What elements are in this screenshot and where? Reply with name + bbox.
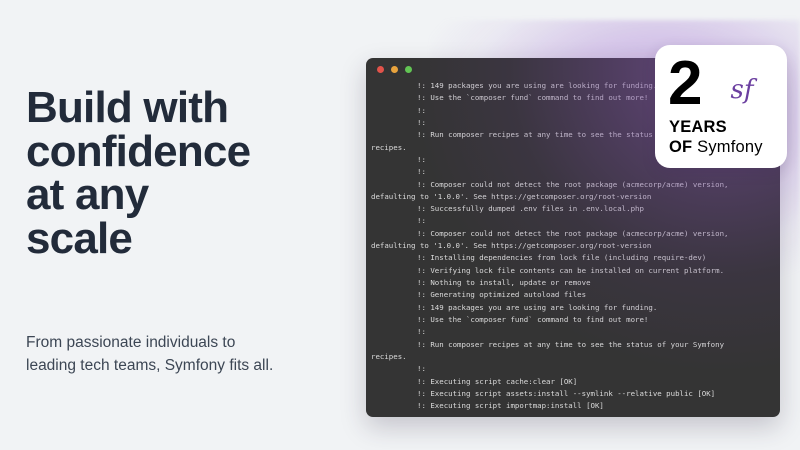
- terminal-line: !: Executing script importmap:install [O…: [366, 400, 780, 412]
- badge-of-symfony-label: OF Symfony: [669, 138, 763, 157]
- terminal-line: !: Use the `composer fund` command to fi…: [366, 314, 780, 326]
- terminal-line: !:: [366, 326, 780, 338]
- minimize-button[interactable]: [391, 66, 398, 73]
- terminal-line: !: Composer could not detect the root pa…: [366, 228, 780, 240]
- terminal-line: !:: [366, 166, 780, 178]
- close-button[interactable]: [377, 66, 384, 73]
- badge-brand-word: Symfony: [697, 138, 763, 156]
- terminal-line: !: Successfully dumped .env files in .en…: [366, 203, 780, 215]
- maximize-button[interactable]: [405, 66, 412, 73]
- anniversary-badge: 2 sf YEARS OF Symfony: [655, 45, 787, 168]
- symfony-mosaic-logo-icon: sf: [713, 58, 771, 116]
- terminal-line: !: Composer could not detect the root pa…: [366, 179, 780, 191]
- hero-title-line-1: Build with: [26, 86, 336, 130]
- terminal-line: !: 149 packages you are using are lookin…: [366, 302, 780, 314]
- terminal-line: recipes.: [366, 351, 780, 363]
- terminal-line: !: Verifying lock file contents can be i…: [366, 265, 780, 277]
- terminal-line: !: Generating optimized autoload files: [366, 289, 780, 301]
- terminal-line: !:: [366, 363, 780, 375]
- terminal-line: defaulting to '1.0.0'. See https://getco…: [366, 240, 780, 252]
- terminal-line: !: Executing script cache:clear [OK]: [366, 376, 780, 388]
- terminal-line: !: Executing script assets:install --sym…: [366, 388, 780, 400]
- badge-years-label: YEARS: [669, 118, 727, 137]
- hero-subtitle: From passionate individuals to leading t…: [26, 332, 326, 378]
- hero-title-line-2: confidence: [26, 130, 336, 174]
- terminal-line: !: Nothing to install, update or remove: [366, 277, 780, 289]
- hero-title-line-4: scale: [26, 217, 336, 261]
- hero-title-line-3: at any: [26, 173, 336, 217]
- badge-of-word: OF: [669, 138, 692, 156]
- terminal-line: defaulting to '1.0.0'. See https://getco…: [366, 191, 780, 203]
- terminal-line: !: Installing dependencies from lock fil…: [366, 252, 780, 264]
- badge-number-row: 2 sf: [655, 52, 787, 118]
- hero-subtitle-line-1: From passionate individuals to: [26, 332, 326, 355]
- terminal-line: !: Run composer recipes at any time to s…: [366, 339, 780, 351]
- slide-canvas: Build with confidence at any scale From …: [0, 0, 800, 450]
- badge-number: 2: [668, 53, 699, 115]
- terminal-line: !:: [366, 215, 780, 227]
- hero-subtitle-line-2: leading tech teams, Symfony fits all.: [26, 355, 326, 378]
- hero-heading: Build with confidence at any scale: [26, 86, 336, 260]
